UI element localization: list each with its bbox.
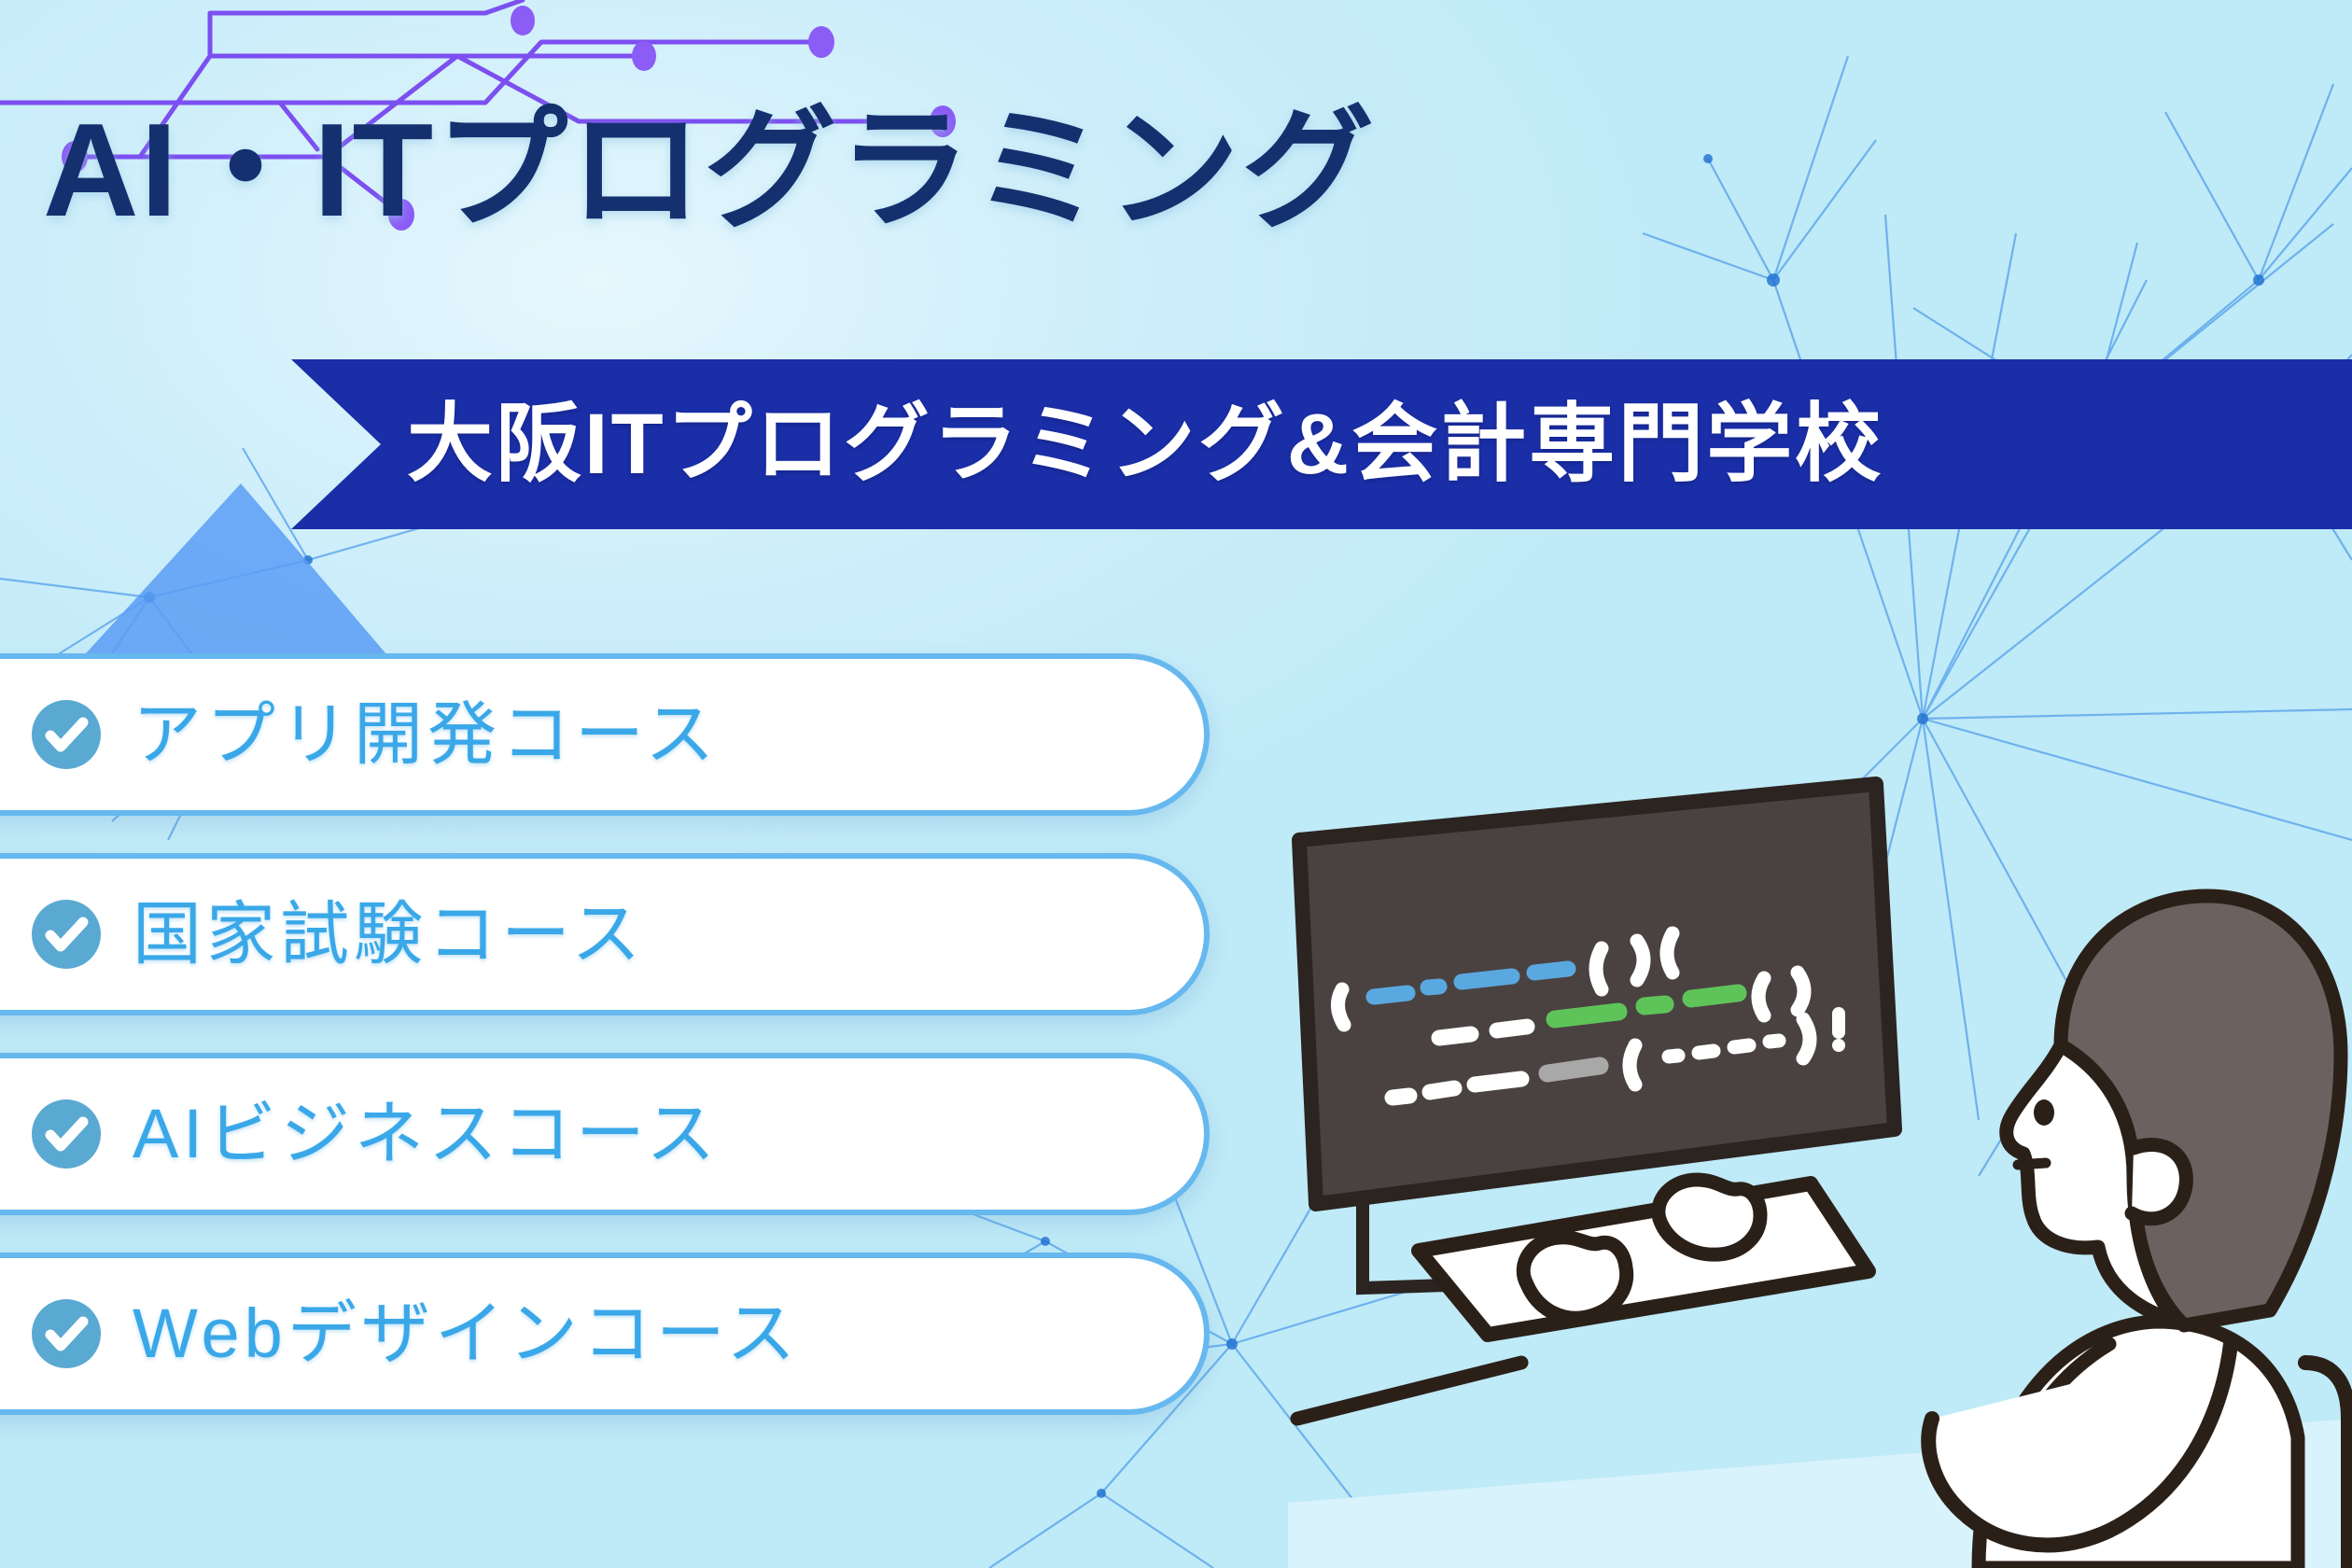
poster-canvas: AI・ITプログラミング 大阪ITプログラミング&会計専門学校 アプリ開発コース… [0, 0, 2352, 1568]
check-circle-icon [32, 900, 101, 969]
school-name-ribbon: 大阪ITプログラミング&会計専門学校 [291, 359, 2352, 529]
list-item[interactable]: 国家試験コース [0, 853, 1210, 1015]
page-title: AI・ITプログラミング [43, 105, 1872, 237]
school-name-label: 大阪ITプログラミング&会計専門学校 [291, 401, 1883, 487]
desk-edge-line [1297, 1363, 1521, 1419]
check-circle-icon [32, 700, 101, 769]
person-mouth [2018, 1163, 2046, 1165]
hand-right [1659, 1180, 1760, 1254]
person-at-computer-illustration [1288, 765, 2352, 1568]
course-label: アプリ開発コース [133, 700, 719, 769]
course-label: AIビジネスコース [133, 1099, 720, 1169]
keyboard [1419, 1183, 1869, 1335]
person-eye [2034, 1099, 2054, 1126]
list-item[interactable]: アプリ開発コース [0, 653, 1210, 816]
person-figure [1928, 896, 2341, 1568]
check-circle-icon [32, 1299, 101, 1368]
course-label: Webデザインコース [133, 1299, 800, 1368]
poster-title-wrap: AI・ITプログラミング [43, 105, 1872, 237]
course-label: 国家試験コース [133, 900, 645, 969]
course-list: アプリ開発コース 国家試験コース AIビジネスコース Webデザインコース [0, 653, 1210, 1452]
list-item[interactable]: Webデザインコース [0, 1253, 1210, 1415]
person-ear [2132, 1144, 2186, 1218]
check-circle-icon [32, 1099, 101, 1169]
hand-left [1523, 1238, 1626, 1318]
list-item[interactable]: AIビジネスコース [0, 1053, 1210, 1215]
